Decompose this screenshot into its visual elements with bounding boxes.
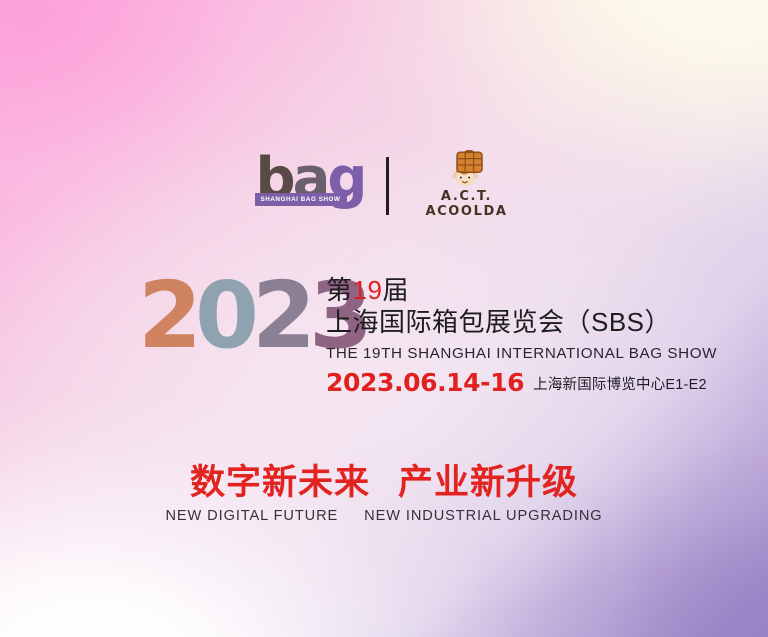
year-digit-1: 2 [138, 262, 195, 369]
event-poster: bag SHANGHAI BAG SHOW [0, 0, 768, 637]
event-name-chinese: 上海国际箱包展览会（SBS） [326, 306, 698, 339]
logo-divider [386, 157, 389, 215]
logo-row: bag SHANGHAI BAG SHOW [0, 148, 768, 224]
slogan-chinese-part1: 数字新未来 [190, 463, 370, 502]
event-date: 2023.06.14-16 [326, 369, 524, 396]
event-title-block: 第19届 上海国际箱包展览会（SBS） THE 19TH SHANGHAI IN… [326, 274, 698, 396]
slogan-chinese: 数字新未来产业新升级 [0, 462, 768, 504]
slogan-english-part2: NEW INDUSTRIAL UPGRADING [364, 508, 602, 524]
year-digit-3: 2 [252, 262, 309, 369]
slogan-chinese-part2: 产业新升级 [398, 463, 578, 502]
edition-suffix: 届 [382, 275, 409, 305]
slogan-block: 数字新未来产业新升级 NEW DIGITAL FUTURENEW INDUSTR… [0, 462, 768, 526]
event-name-english: THE 19TH SHANGHAI INTERNATIONAL BAG SHOW [326, 344, 698, 363]
slogan-english-part1: NEW DIGITAL FUTURE [165, 508, 338, 524]
edition-number: 19 [353, 275, 383, 305]
bag-logo-banner: SHANGHAI BAG SHOW [255, 193, 347, 206]
acoolda-abbreviation: A.C.T. [441, 190, 492, 204]
shanghai-bag-show-logo: bag SHANGHAI BAG SHOW [254, 153, 358, 219]
date-venue-row: 2023.06.14-16 上海新国际博览中心E1-E2 [326, 369, 698, 396]
poster-content: bag SHANGHAI BAG SHOW [0, 0, 768, 637]
year-digit-2: 0 [195, 262, 252, 369]
event-venue: 上海新国际博览中心E1-E2 [533, 374, 707, 396]
edition-prefix: 第 [326, 275, 353, 305]
edition-line: 第19届 [326, 274, 698, 306]
acoolda-logo: A.C.T. ACOOLDA [419, 150, 515, 222]
acoolda-brand-name: ACOOLDA [425, 205, 507, 219]
slogan-english: NEW DIGITAL FUTURENEW INDUSTRIAL UPGRADI… [0, 506, 768, 526]
character-with-bag-icon [446, 150, 488, 188]
